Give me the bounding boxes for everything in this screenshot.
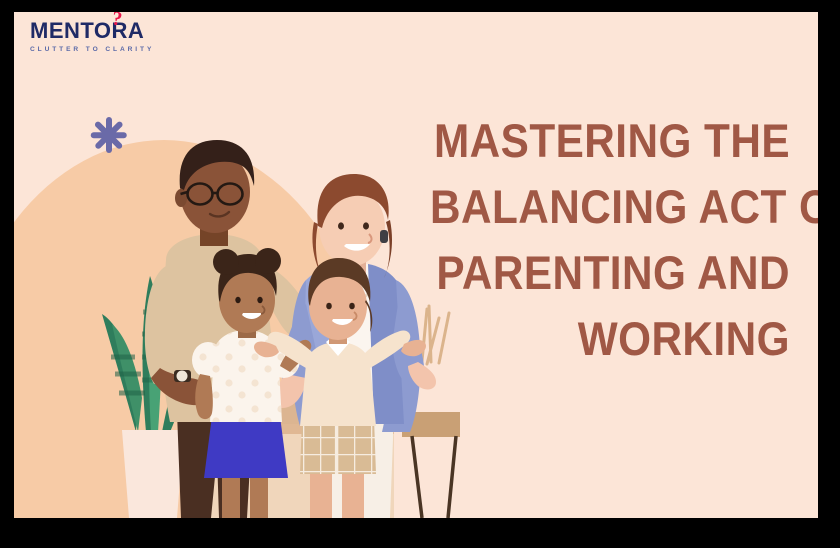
headline-line-2: BALANCING ACT OF <box>430 174 790 240</box>
logo-wordmark-text: MENTORA <box>30 18 144 43</box>
banner-frame: MENTORA ? CLUTTER TO CLARITY MASTERING T… <box>0 0 840 548</box>
headline-line-3: PARENTING AND <box>430 240 790 306</box>
banner-canvas: MENTORA ? CLUTTER TO CLARITY MASTERING T… <box>14 12 818 518</box>
headline-line-4: WORKING <box>430 306 790 372</box>
headline-line-1: MASTERING THE <box>430 108 790 174</box>
logo-wordmark: MENTORA ? <box>30 20 154 42</box>
logo-tagline: CLUTTER TO CLARITY <box>30 46 154 53</box>
mentoria-logo[interactable]: MENTORA ? CLUTTER TO CLARITY <box>30 20 154 53</box>
headline: MASTERING THE BALANCING ACT OF PARENTING… <box>390 108 790 372</box>
